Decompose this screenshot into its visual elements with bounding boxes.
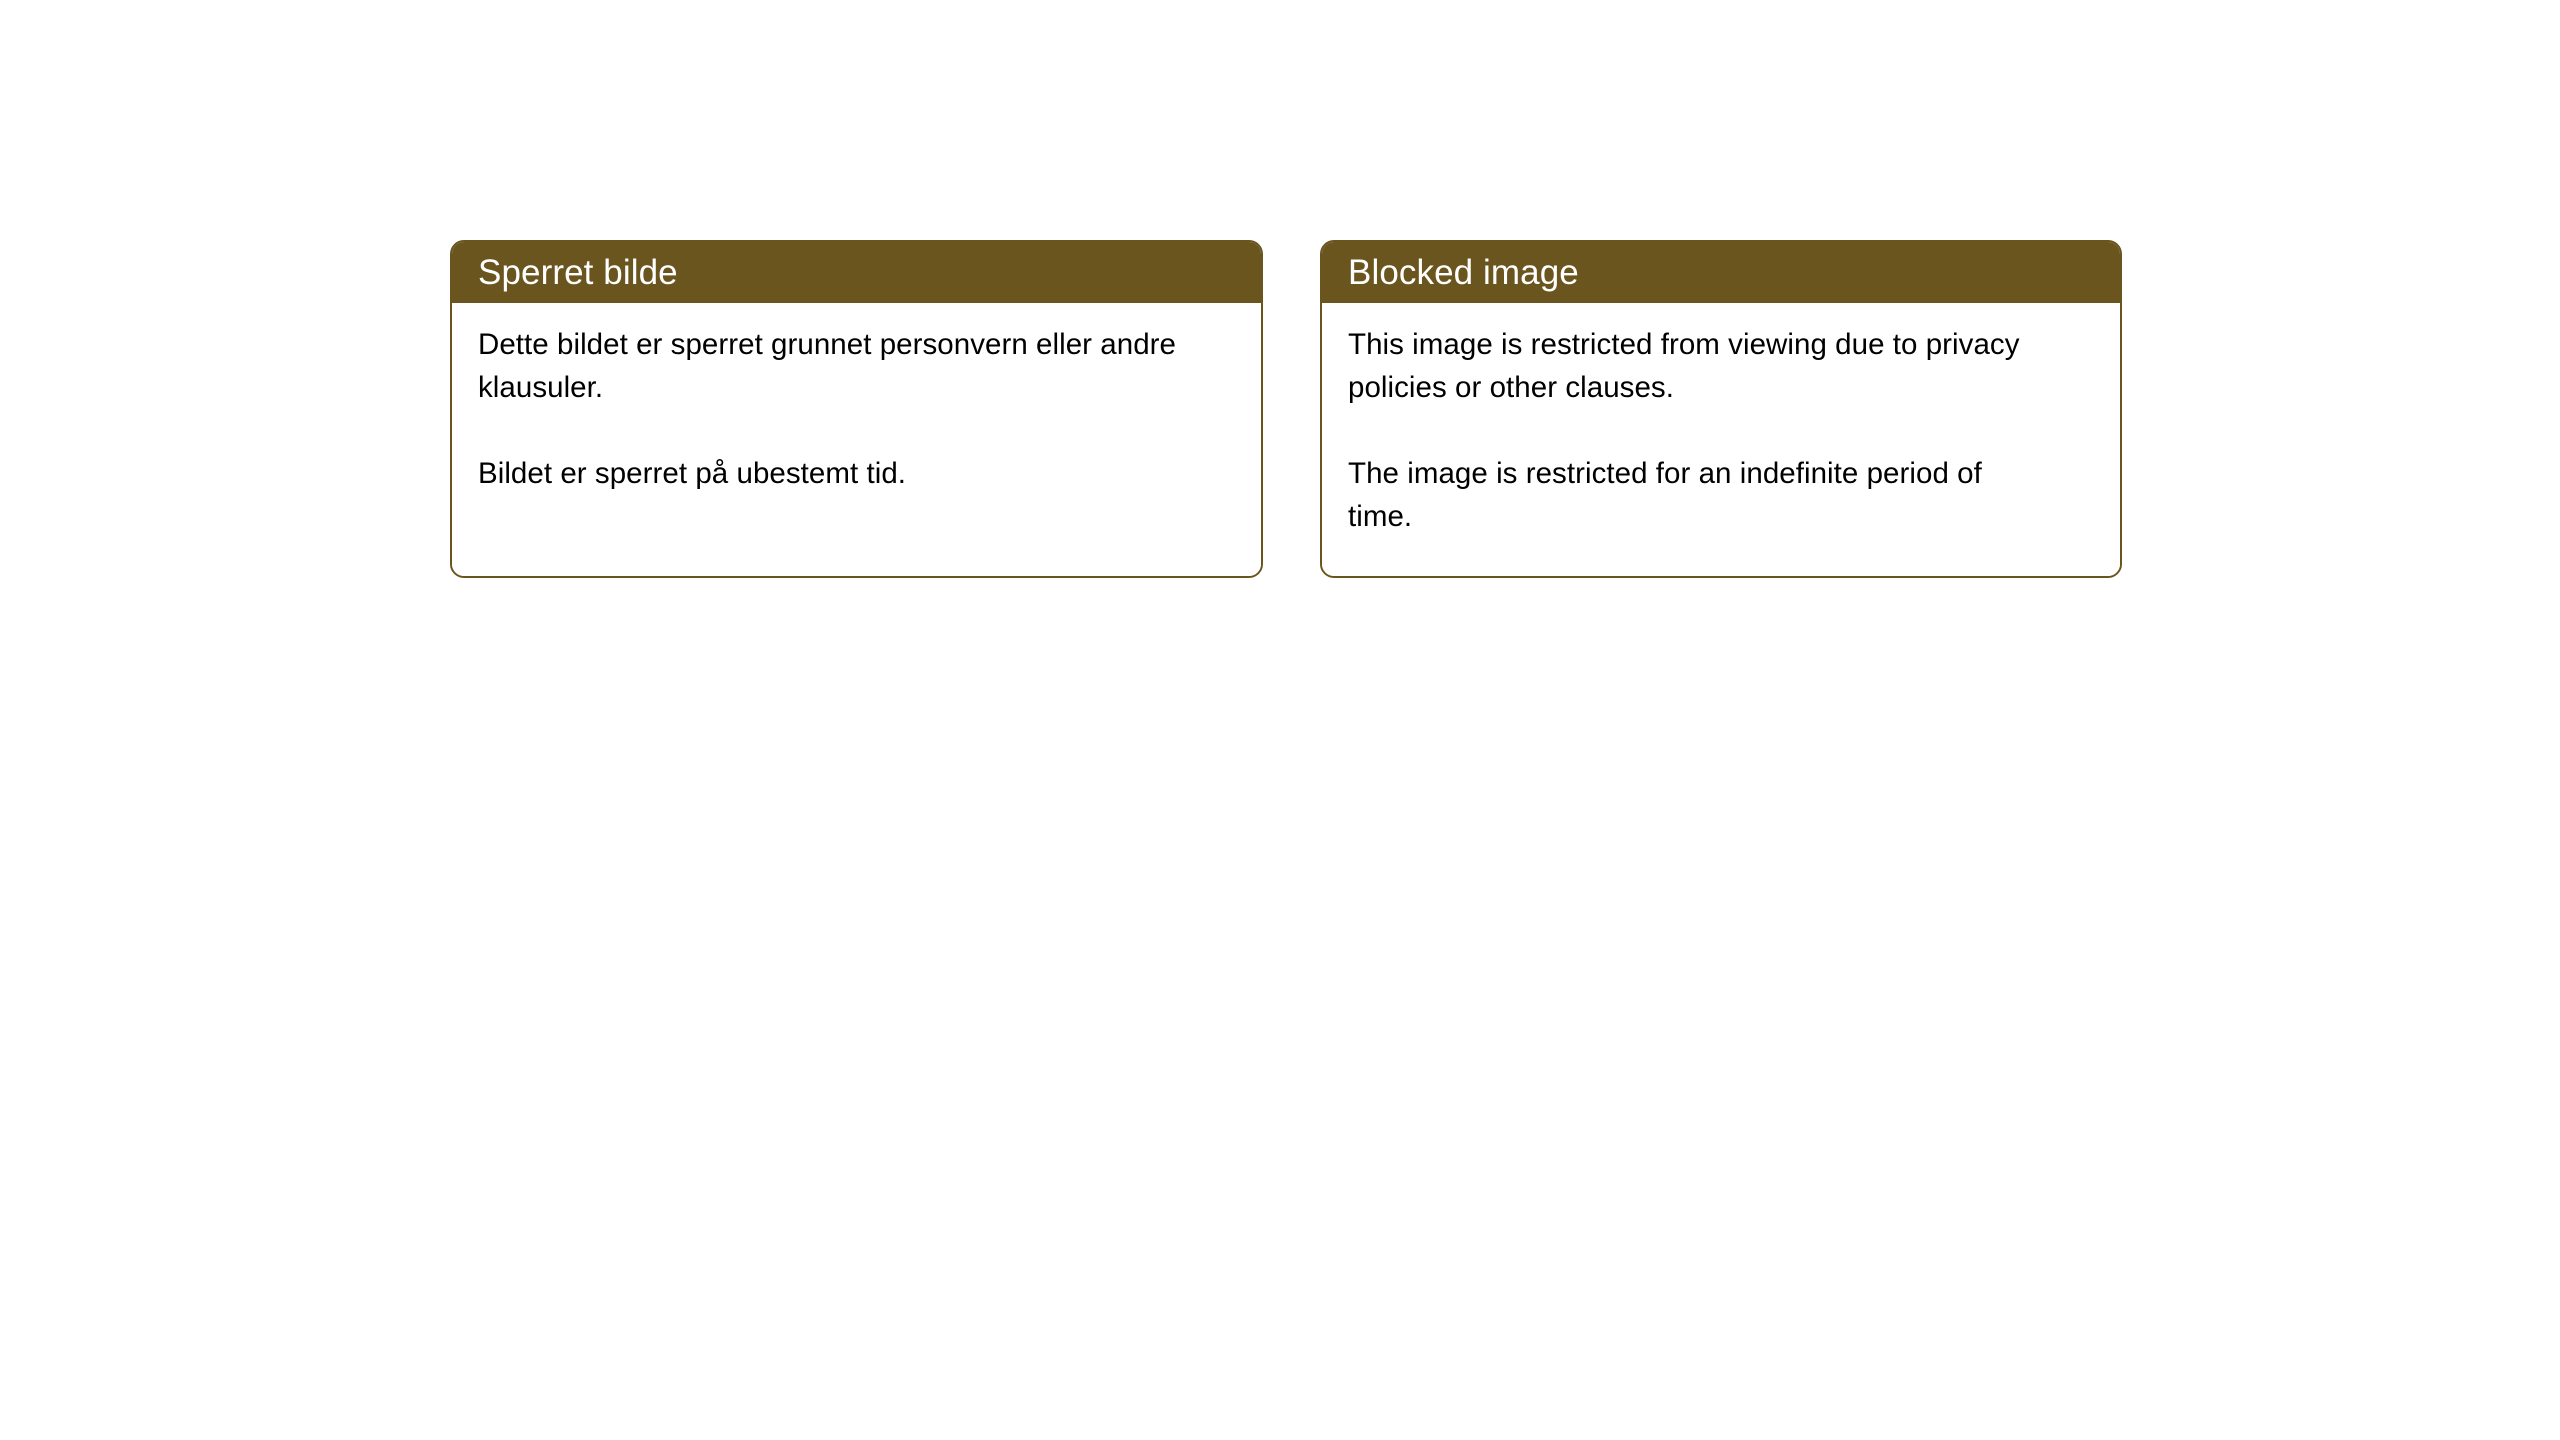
blocked-image-card-no: Sperret bilde Dette bildet er sperret gr… — [450, 240, 1263, 578]
card-paragraph-en-2: The image is restricted for an indefinit… — [1348, 452, 2048, 538]
card-title-no: Sperret bilde — [478, 254, 678, 292]
card-body-no: Dette bildet er sperret grunnet personve… — [452, 303, 1261, 576]
card-paragraph-no-1: Dette bildet er sperret grunnet personve… — [478, 323, 1178, 409]
blocked-image-card-en: Blocked image This image is restricted f… — [1320, 240, 2122, 578]
card-paragraph-en-1: This image is restricted from viewing du… — [1348, 323, 2048, 409]
card-header-en: Blocked image — [1322, 242, 2120, 303]
card-title-en: Blocked image — [1348, 254, 1579, 292]
card-header-no: Sperret bilde — [452, 242, 1261, 303]
card-paragraph-no-2: Bildet er sperret på ubestemt tid. — [478, 452, 1178, 495]
card-body-en: This image is restricted from viewing du… — [1322, 303, 2120, 576]
page-canvas: Sperret bilde Dette bildet er sperret gr… — [0, 0, 2560, 1440]
blocked-image-notice-group: Sperret bilde Dette bildet er sperret gr… — [450, 240, 2122, 578]
